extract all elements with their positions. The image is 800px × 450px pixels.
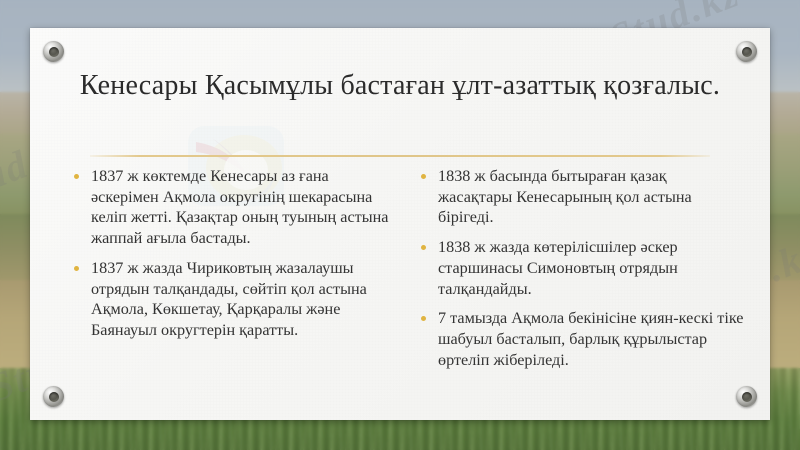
list-item: 1838 ж жазда көтерілісшілер әскер старши…: [415, 237, 744, 299]
screw-icon-top-left: [43, 41, 64, 62]
list-item: 7 тамызда Ақмола бекінісіне қиян-кескі т…: [415, 308, 744, 370]
left-column: 1837 ж көктемде Кенесары аз ғана әскерім…: [68, 166, 397, 380]
title-divider: [90, 155, 710, 157]
screw-icon-top-right: [736, 41, 757, 62]
left-bullet-list: 1837 ж көктемде Кенесары аз ғана әскерім…: [68, 166, 397, 341]
content-columns: 1837 ж көктемде Кенесары аз ғана әскерім…: [68, 166, 744, 380]
slide-card: Кенесары Қасымұлы бастаған ұлт-азаттық қ…: [30, 28, 770, 420]
screw-icon-bottom-left: [43, 386, 64, 407]
screw-icon-bottom-right: [736, 386, 757, 407]
list-item: 1837 ж көктемде Кенесары аз ғана әскерім…: [68, 166, 397, 249]
list-item: 1838 ж басында бытыраған қазақ жасақтары…: [415, 166, 744, 228]
right-bullet-list: 1838 ж басында бытыраған қазақ жасақтары…: [415, 166, 744, 371]
slide-canvas: Stud.kz - Stud.kz Stud.kz - Stud.kz Stud…: [0, 0, 800, 450]
list-item: 1837 ж жазда Чириковтың жазалаушы отряды…: [68, 258, 397, 341]
page-title: Кенесары Қасымұлы бастаған ұлт-азаттық қ…: [70, 66, 730, 106]
right-column: 1838 ж басында бытыраған қазақ жасақтары…: [415, 166, 744, 380]
